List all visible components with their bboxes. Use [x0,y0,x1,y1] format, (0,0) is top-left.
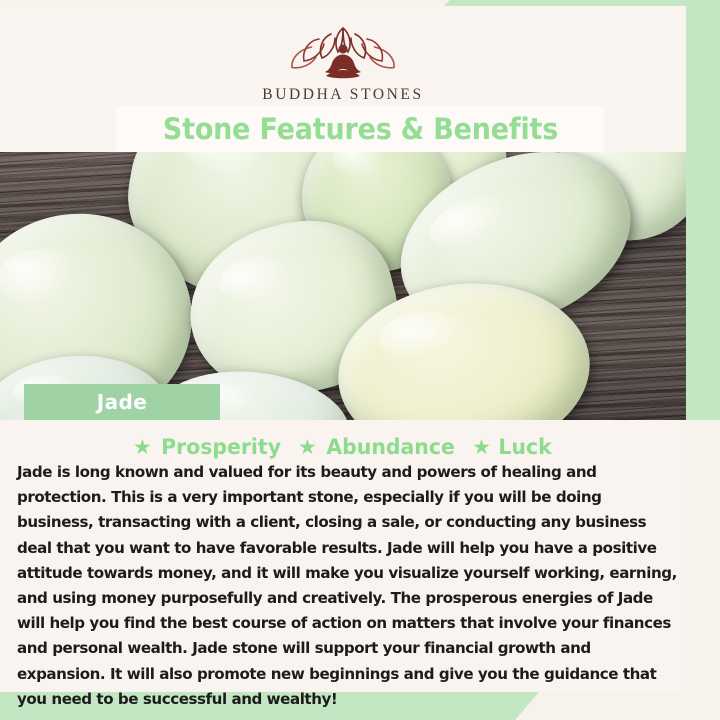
stone-description: Jade is long known and valued for its be… [17,460,680,712]
star-icon: ★ [133,437,152,458]
star-icon: ★ [298,437,317,458]
title-banner: Stone Features & Benefits [116,106,604,152]
keyword-luck: ★ Luck [472,435,553,460]
brand-name: BUDDHA STONES [262,86,423,104]
stone-name-banner: Jade [24,384,220,420]
stone-keywords: ★ Prosperity ★ Abundance ★ Luck [0,430,686,464]
lotus-meditation-icon [283,21,403,83]
keyword-label: Abundance [326,435,454,460]
stone-photo [0,152,686,420]
brand-header: BUDDHA STONES [0,6,720,118]
stone-name: Jade [97,390,147,414]
keyword-abundance: ★ Abundance [298,435,458,460]
keyword-prosperity: ★ Prosperity [133,435,284,460]
keyword-label: Luck [498,435,551,460]
keyword-label: Prosperity [161,435,281,460]
page-title: Stone Features & Benefits [162,112,557,146]
star-icon: ★ [472,437,491,458]
